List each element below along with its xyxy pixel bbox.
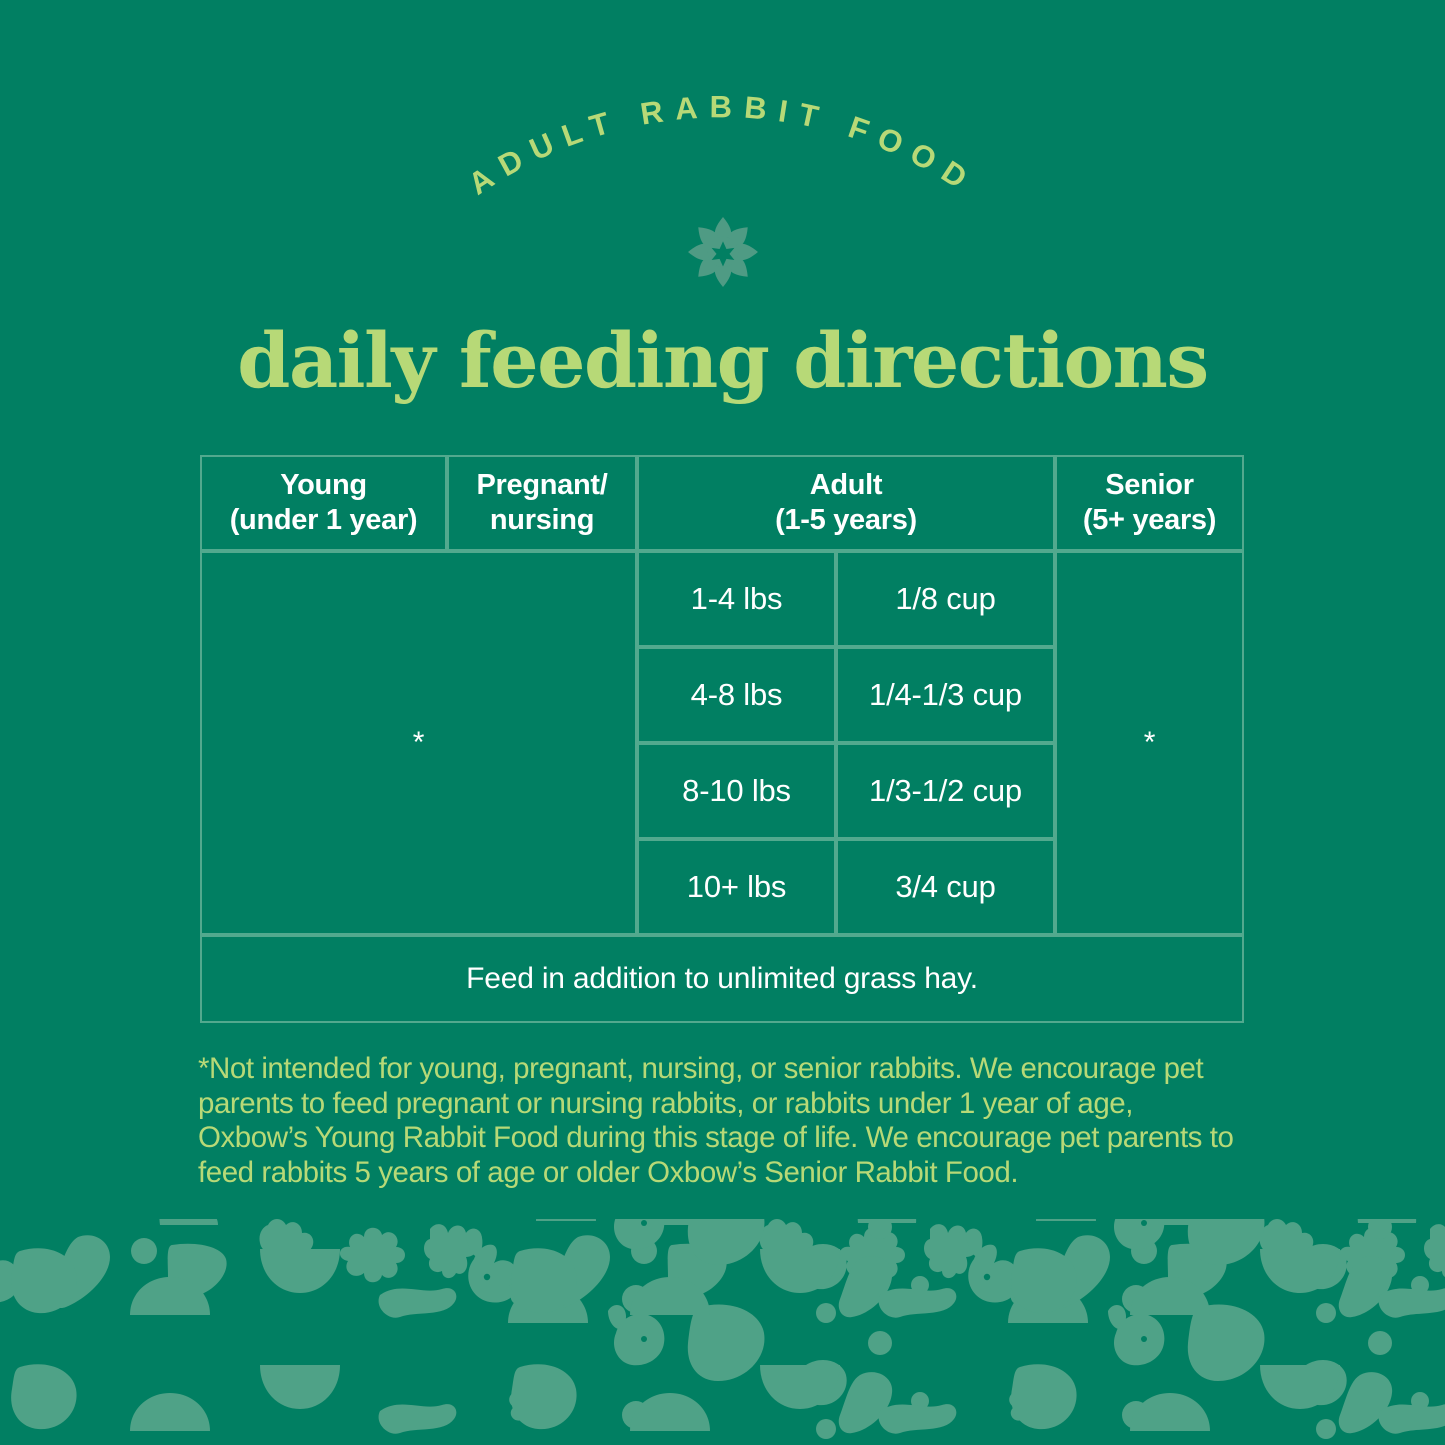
header-young-line2: (under 1 year) — [230, 504, 418, 536]
feeding-directions-table: Young (under 1 year) Pregnant/ nursing A… — [200, 455, 1244, 1023]
cell-adult-amount: 3/4 cup — [836, 839, 1055, 935]
header-young: Young (under 1 year) — [200, 455, 447, 551]
eyebrow-label: ADULT RABBIT FOOD — [462, 89, 983, 201]
cell-adult-weight: 1-4 lbs — [637, 551, 836, 647]
feeding-directions-panel: ADULT RABBIT FOOD daily feeding direc — [0, 0, 1445, 1445]
header-young-line1: Young — [280, 469, 367, 501]
table-footer-row: Feed in addition to unlimited grass hay. — [200, 935, 1244, 1023]
header-pregnant-nursing: Pregnant/ nursing — [447, 455, 637, 551]
table-header-row: Young (under 1 year) Pregnant/ nursing A… — [200, 455, 1244, 551]
header-senior-line2: (5+ years) — [1083, 504, 1216, 536]
header-pregnant-line2: nursing — [490, 504, 594, 536]
cell-adult-amount: 1/8 cup — [836, 551, 1055, 647]
cell-young-pregnant-asterisk: * — [200, 551, 637, 935]
decorative-pattern-band — [0, 1219, 1445, 1445]
header-adult: Adult (1-5 years) — [637, 455, 1055, 551]
table-footer-note: Feed in addition to unlimited grass hay. — [200, 935, 1244, 1023]
cell-adult-weight: 4-8 lbs — [637, 647, 836, 743]
disclaimer-text: *Not intended for young, pregnant, nursi… — [198, 1052, 1250, 1190]
rosette-flower-icon — [685, 214, 761, 290]
page-title: daily feeding directions — [0, 323, 1445, 399]
header-senior: Senior (5+ years) — [1055, 455, 1244, 551]
cell-adult-amount: 1/3-1/2 cup — [836, 743, 1055, 839]
cell-adult-amount: 1/4-1/3 cup — [836, 647, 1055, 743]
header-adult-line2: (1-5 years) — [775, 504, 917, 536]
cell-adult-weight: 10+ lbs — [637, 839, 836, 935]
header-adult-line1: Adult — [810, 469, 883, 501]
header-senior-line1: Senior — [1105, 469, 1193, 501]
cell-senior-asterisk: * — [1055, 551, 1244, 935]
header-pregnant-line1: Pregnant/ — [476, 469, 607, 501]
table-row: * 1-4 lbs 1/8 cup * — [200, 551, 1244, 647]
cell-adult-weight: 8-10 lbs — [637, 743, 836, 839]
